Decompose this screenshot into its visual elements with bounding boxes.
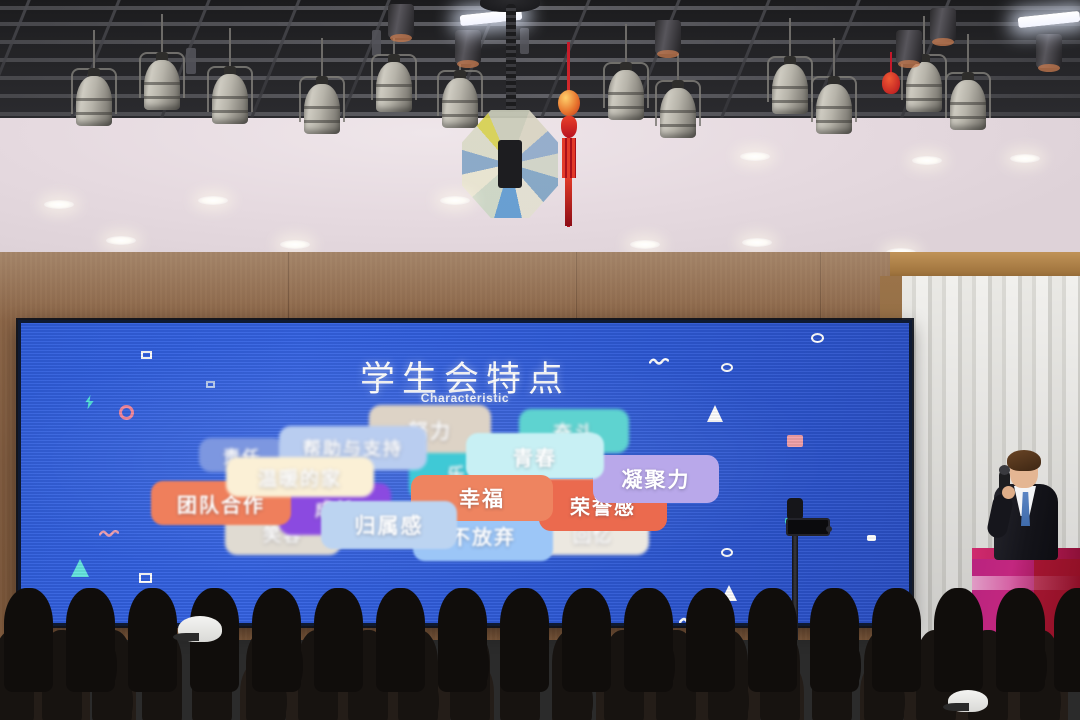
audience-head — [562, 588, 611, 692]
audience-head — [996, 588, 1045, 692]
audience-head — [934, 588, 983, 692]
recessed-downlight — [198, 196, 228, 205]
word-tag: 凝聚力 — [593, 455, 719, 503]
slide-subtitle: Characteristic — [21, 391, 909, 405]
led-wall-frame: 学生会特点 Characteristic 责任帮助与支持努力奋斗青春温暖的家乐观… — [18, 320, 912, 626]
stage-light — [604, 58, 648, 124]
recessed-downlight — [440, 196, 470, 205]
word-tag: 归属感 — [321, 501, 457, 549]
wall-light-sheen — [0, 252, 912, 322]
audience-head — [500, 588, 549, 692]
recessed-downlight — [742, 238, 772, 247]
audience-head — [376, 588, 425, 692]
recessed-downlight — [1010, 154, 1040, 163]
audience-head — [624, 588, 673, 692]
stage-light — [812, 72, 856, 138]
audience-head — [314, 588, 363, 692]
spot-barrel-light — [388, 4, 414, 38]
small-red-tassel — [880, 52, 902, 100]
spot-barrel-light — [930, 8, 956, 42]
square-fill-icon — [867, 535, 876, 541]
red-chinese-tassel — [556, 42, 582, 227]
stage-light — [768, 52, 812, 118]
audience-head — [252, 588, 301, 692]
spot-barrel-light — [455, 30, 481, 64]
mirror-ball — [462, 110, 558, 218]
stage-light — [656, 76, 700, 142]
word-tag: 温暖的家 — [226, 457, 374, 497]
audience-white-cap — [178, 616, 222, 642]
led-wall-screen[interactable]: 学生会特点 Characteristic 责任帮助与支持努力奋斗青春温暖的家乐观… — [21, 323, 909, 623]
stage-light — [208, 62, 252, 128]
audience-white-cap — [948, 690, 988, 712]
seated-audience — [0, 588, 1080, 720]
triangle-icon — [707, 405, 723, 422]
stage-light — [140, 48, 184, 114]
audience-head — [1054, 588, 1080, 692]
recessed-downlight — [106, 236, 136, 245]
dot-ring-icon — [721, 548, 733, 557]
audience-head — [66, 588, 115, 692]
recessed-downlight — [44, 200, 74, 209]
audience-head — [686, 588, 735, 692]
audience-head — [4, 588, 53, 692]
recessed-downlight — [280, 240, 310, 249]
wave-icon — [99, 525, 119, 533]
recessed-downlight — [630, 240, 660, 249]
stage-light — [946, 68, 990, 134]
stage-light — [372, 50, 416, 116]
student-presenter — [988, 442, 1066, 560]
phone-camera — [786, 518, 830, 536]
triangle-icon — [71, 559, 89, 577]
square-outline-icon — [139, 573, 152, 583]
audience-head — [872, 588, 921, 692]
audience-head — [810, 588, 859, 692]
recessed-downlight — [912, 156, 942, 165]
stage-light — [72, 64, 116, 130]
spot-barrel-light — [655, 20, 681, 54]
stage-light — [300, 72, 344, 138]
word-tag: 青春 — [466, 433, 604, 479]
square-fill-icon — [787, 435, 803, 447]
audience-head — [128, 588, 177, 692]
dot-ring-icon — [811, 333, 824, 343]
ring-icon — [119, 405, 134, 420]
recessed-downlight — [740, 152, 770, 161]
audience-head — [438, 588, 487, 692]
audience-head — [748, 588, 797, 692]
spot-barrel-light — [1036, 34, 1062, 68]
auditorium-scene: 学生会特点 Characteristic 责任帮助与支持努力奋斗青春温暖的家乐观… — [0, 0, 1080, 720]
